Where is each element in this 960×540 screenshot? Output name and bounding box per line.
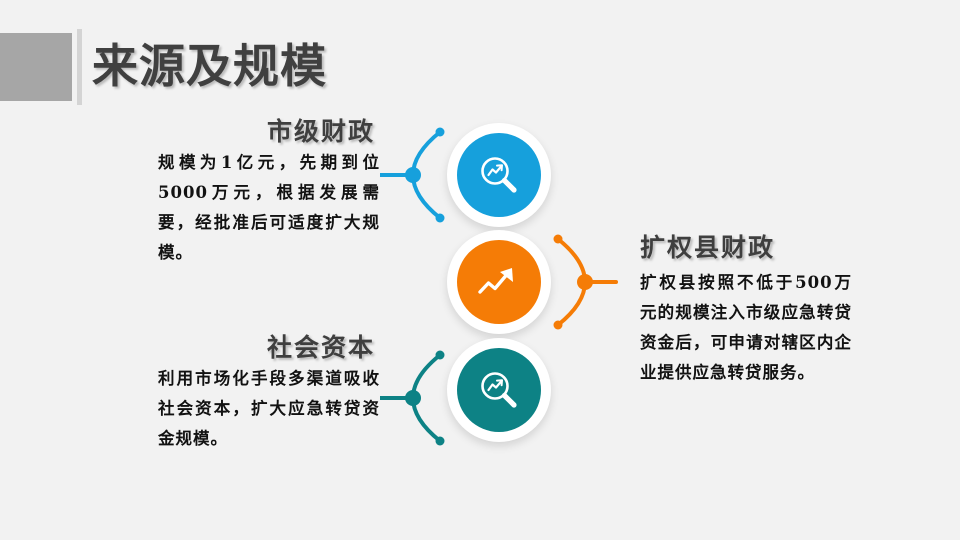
magnifier-chart-icon — [476, 152, 522, 198]
node-circle-social[interactable] — [447, 338, 551, 442]
slide-canvas: 来源及规模 市级财政 规模为1亿元，先期到位5000万元，根据发展需要，经批准后… — [0, 0, 960, 540]
block-heading-social: 社会资本 — [0, 328, 375, 364]
connector-city — [380, 120, 450, 230]
connector-social — [380, 343, 450, 453]
block-heading-city: 市级财政 — [0, 112, 375, 148]
block-body-city: 规模为1亿元，先期到位5000万元，根据发展需要，经批准后可适度扩大规模。 — [158, 148, 380, 268]
block-body-social: 利用市场化手段多渠道吸收社会资本，扩大应急转贷资金规模。 — [158, 364, 380, 454]
node-fill-city — [457, 133, 541, 217]
block-body-county: 扩权县按照不低于500万元的规模注入市级应急转贷资金后，可申请对辖区内企业提供应… — [640, 268, 852, 388]
trend-arrow-icon — [475, 261, 523, 303]
title-divider-bar — [77, 29, 82, 105]
node-fill-social — [457, 348, 541, 432]
block-heading-county: 扩权县财政 — [640, 228, 930, 264]
node-fill-county — [457, 240, 541, 324]
page-title: 来源及规模 — [92, 38, 327, 94]
connector-county — [548, 227, 618, 337]
node-circle-county[interactable] — [447, 230, 551, 334]
title-accent-block — [0, 33, 72, 101]
node-circle-city[interactable] — [447, 123, 551, 227]
magnifier-chart-icon — [476, 367, 522, 413]
